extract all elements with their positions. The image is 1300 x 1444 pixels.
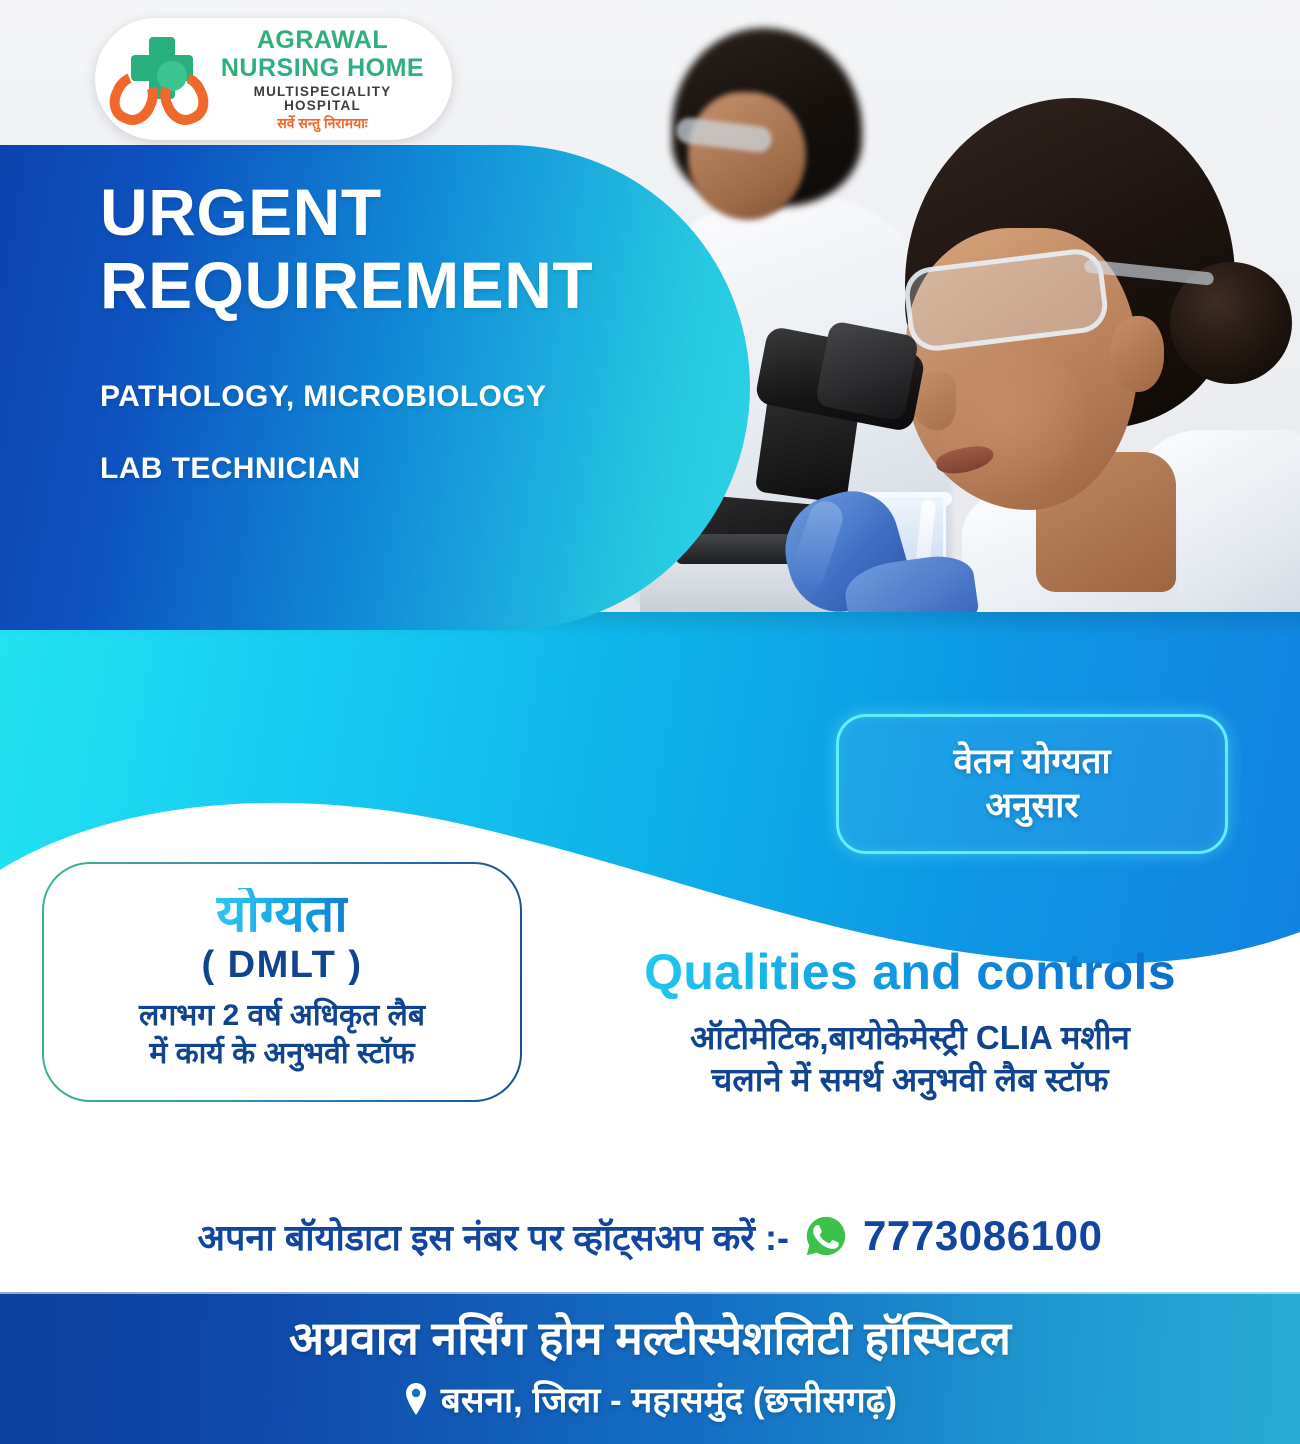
qualities-line-2: चलाने में समर्थ अनुभवी लैब स्टॉफ — [540, 1059, 1280, 1102]
microscope-eyepiece-barrel — [815, 320, 920, 422]
logo-tagline: सर्वे सन्तु निरामयाः — [213, 116, 432, 130]
contact-row: अपना बॉयोडाटा इस नंबर पर व्हॉट्सअप करें … — [0, 1196, 1300, 1276]
foreground-technician-ear — [1110, 316, 1164, 392]
logo-line-3: MULTISPECIALITY HOSPITAL — [213, 85, 432, 112]
qualities-section: Qualities and controls ऑटोमेटिक,बायोकेमे… — [540, 946, 1280, 1102]
headline-line-1: URGENT — [100, 177, 670, 248]
recruitment-poster: AGRAWAL NURSING HOME MULTISPECIALITY HOS… — [0, 0, 1300, 1444]
qualification-inner: योग्यता ( DMLT ) लगभग 2 वर्ष अधिकृत लैब … — [44, 864, 520, 1100]
footer-address: बसना, जिला - महासमुंद (छत्तीसगढ़) — [441, 1376, 897, 1423]
logo-line-2: NURSING HOME — [213, 56, 432, 81]
headline-subtitle-1: PATHOLOGY, MICROBIOLOGY — [100, 380, 670, 414]
qualification-degree: ( DMLT ) — [201, 944, 362, 987]
location-pin-icon — [403, 1382, 429, 1416]
hospital-logo: AGRAWAL NURSING HOME MULTISPECIALITY HOS… — [95, 18, 452, 140]
qualification-box: योग्यता ( DMLT ) लगभग 2 वर्ष अधिकृत लैब … — [42, 862, 522, 1102]
qualification-detail-1: लगभग 2 वर्ष अधिकृत लैब — [139, 997, 425, 1034]
logo-mark — [111, 33, 207, 125]
qualities-line-1: ऑटोमेटिक,बायोकेमेस्ट्री CLIA मशीन — [540, 1017, 1280, 1060]
caring-hands-icon — [111, 71, 207, 125]
contact-prompt: अपना बॉयोडाटा इस नंबर पर व्हॉट्सअप करें … — [197, 1212, 788, 1261]
headline-panel: URGENT REQUIREMENT PATHOLOGY, MICROBIOLO… — [0, 145, 750, 630]
phone-number[interactable]: 7773086100 — [863, 1212, 1103, 1260]
qualification-detail-2: में कार्य के अनुभवी स्टॉफ — [149, 1035, 414, 1072]
background-technician-face — [688, 92, 806, 220]
caring-hands-left — [102, 64, 166, 132]
logo-line-1: AGRAWAL — [213, 28, 432, 53]
qualification-title: योग्यता — [216, 888, 348, 940]
foreground-technician-cheek — [938, 350, 1088, 500]
headline-text-block: URGENT REQUIREMENT PATHOLOGY, MICROBIOLO… — [0, 145, 700, 630]
headline-subtitle-2: LAB TECHNICIAN — [100, 452, 670, 486]
headline-line-2: REQUIREMENT — [100, 250, 670, 321]
salary-line-2: अनुसार — [985, 784, 1078, 828]
footer-hospital-name: अग्रवाल नर्सिंग होम मल्टीस्पेशलिटी हॉस्प… — [289, 1313, 1011, 1364]
qualities-title: Qualities and controls — [540, 946, 1280, 999]
footer-top-divider — [0, 1292, 1300, 1294]
footer-address-row: बसना, जिला - महासमुंद (छत्तीसगढ़) — [403, 1376, 897, 1423]
salary-badge: वेतन योग्यता अनुसार — [836, 714, 1228, 854]
salary-line-1: वेतन योग्यता — [953, 740, 1110, 784]
logo-text-block: AGRAWAL NURSING HOME MULTISPECIALITY HOS… — [213, 28, 432, 130]
whatsapp-icon[interactable] — [803, 1213, 849, 1259]
footer-bar: अग्रवाल नर्सिंग होम मल्टीस्पेशलिटी हॉस्प… — [0, 1292, 1300, 1444]
caring-hands-right — [152, 64, 216, 132]
